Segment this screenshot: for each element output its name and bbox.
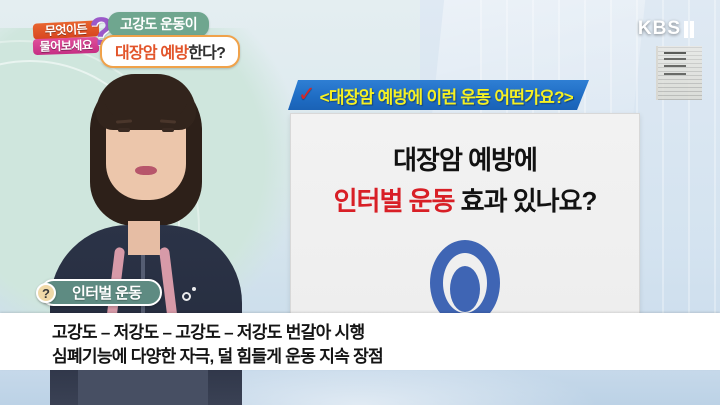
presenter-eye-right [162,128,174,132]
decor-circle-icon [182,292,191,301]
episode-title-line2: 대장암 예방한다? [100,35,240,68]
question-panel: 대장암 예방에 인터벌 운동 효과 있나요? [290,113,640,325]
episode-title-highlight: 대장암 예방 [115,45,188,62]
presenter-mouth [135,166,157,175]
channel-bug: KBS [638,18,694,40]
watermark-thumbnail [656,46,702,100]
term-label-text: 인터벌 운동 [72,282,142,303]
subtitle-line-1: 고강도 – 저강도 – 고강도 – 저강도 번갈아 시행 [52,318,364,343]
check-icon: ✓ [298,84,316,105]
presenter-neck [128,221,160,255]
channel-number-icon [684,21,694,38]
question-rest: 효과 있나요? [454,186,596,216]
question-line-1: 대장암 예방에 [291,140,639,177]
question-highlight: 인터벌 운동 [334,186,455,216]
subtitle-bar: 고강도 – 저강도 – 고강도 – 저강도 번갈아 시행 심폐기능에 다양한 자… [0,313,720,370]
topic-banner-text: <대장암 예방에 이런 운동 어떤가요?> [320,83,573,108]
question-badge-icon: ? [36,283,56,303]
presenter-eye-left [118,128,130,132]
broadcast-screen: 무엇이든 물어보세요 ? 고강도 운동이 대장암 예방한다? KBS 물어보세요… [0,0,720,405]
presenter-hair-fringe [104,96,188,120]
topic-banner: ✓ <대장암 예방에 이런 운동 어떤가요?> [288,80,589,110]
episode-title-rest: 한다? [188,45,225,62]
show-logo: 무엇이든 물어보세요 ? [33,14,105,56]
episode-title-line1: 고강도 운동이 [108,12,209,37]
question-line-2: 인터벌 운동 효과 있나요? [291,181,639,218]
term-label-pill: 인터벌 운동 [40,279,162,306]
episode-title: 고강도 운동이 대장암 예방한다? [100,12,260,60]
answer-o-center-icon [450,266,480,312]
channel-bug-text: KBS [638,18,681,40]
decor-dot-icon [192,287,196,291]
subtitle-line-2: 심폐기능에 다양한 자극, 덜 힘들게 운동 지속 장점 [52,342,383,367]
